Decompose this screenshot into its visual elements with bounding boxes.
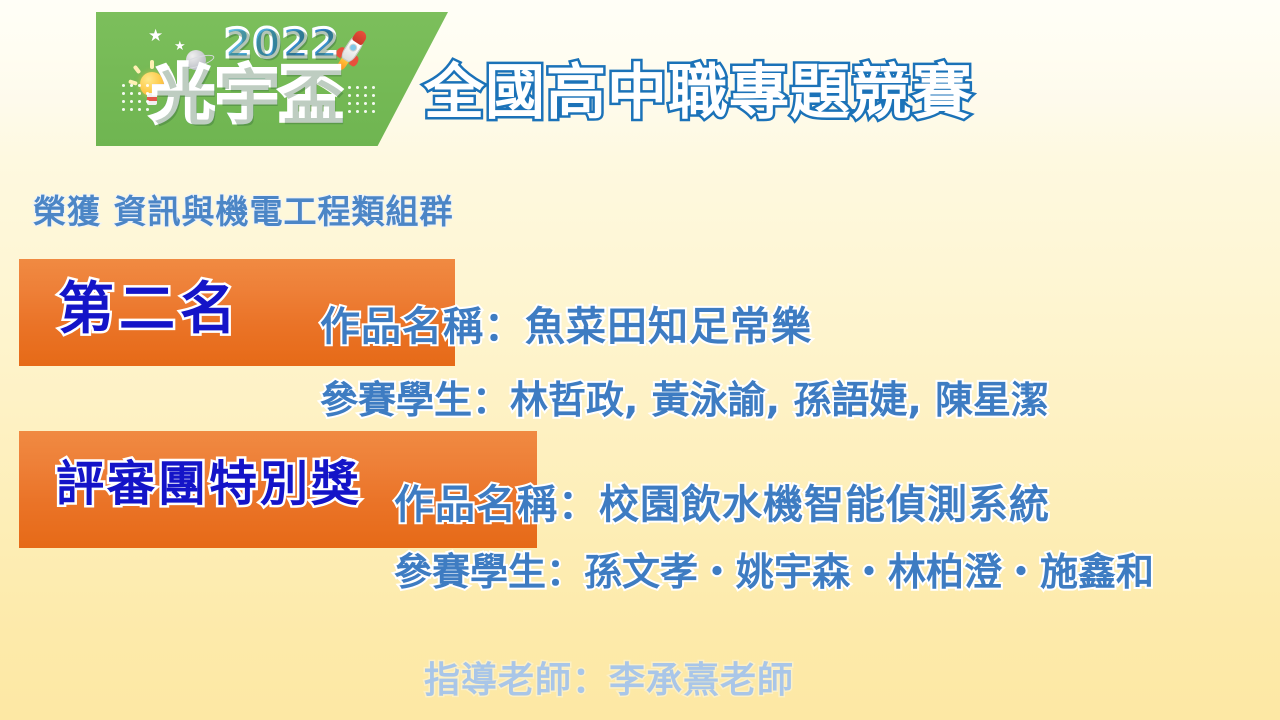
competition-logo-banner: ★ ★ <box>96 12 448 146</box>
dot-grid-icon <box>348 86 375 113</box>
dot-grid-icon <box>122 84 149 111</box>
advisor-teacher-label: 指導老師：李承熹老師 <box>424 663 794 699</box>
star-icon: ★ <box>148 28 163 45</box>
award-slide: ★ ★ <box>0 0 1280 720</box>
category-subheading: 榮獲 資訊與機電工程類組群 <box>33 185 454 233</box>
award-badge-label-first: 第二名 <box>58 282 241 338</box>
logo-name-text: 光宇盃 <box>152 64 344 126</box>
award-work-title-second: 作品名稱：校園飲水機智能偵測系統 <box>394 485 1050 525</box>
page-title: 全國高中職專題競賽 <box>424 60 973 126</box>
logo-artwork: ★ ★ <box>96 12 448 146</box>
award-work-title-first: 作品名稱：魚菜田知足常樂 <box>320 307 812 347</box>
star-icon: ★ <box>174 40 186 53</box>
award-students-second: 參賽學生：孫文孝・姚宇森・林柏澄・施鑫和 <box>394 553 1154 591</box>
award-students-first: 參賽學生：林哲政, 黃泳諭, 孫語婕, 陳星潔 <box>320 381 1049 419</box>
award-badge-label-second: 評審團特別獎 <box>56 460 362 508</box>
